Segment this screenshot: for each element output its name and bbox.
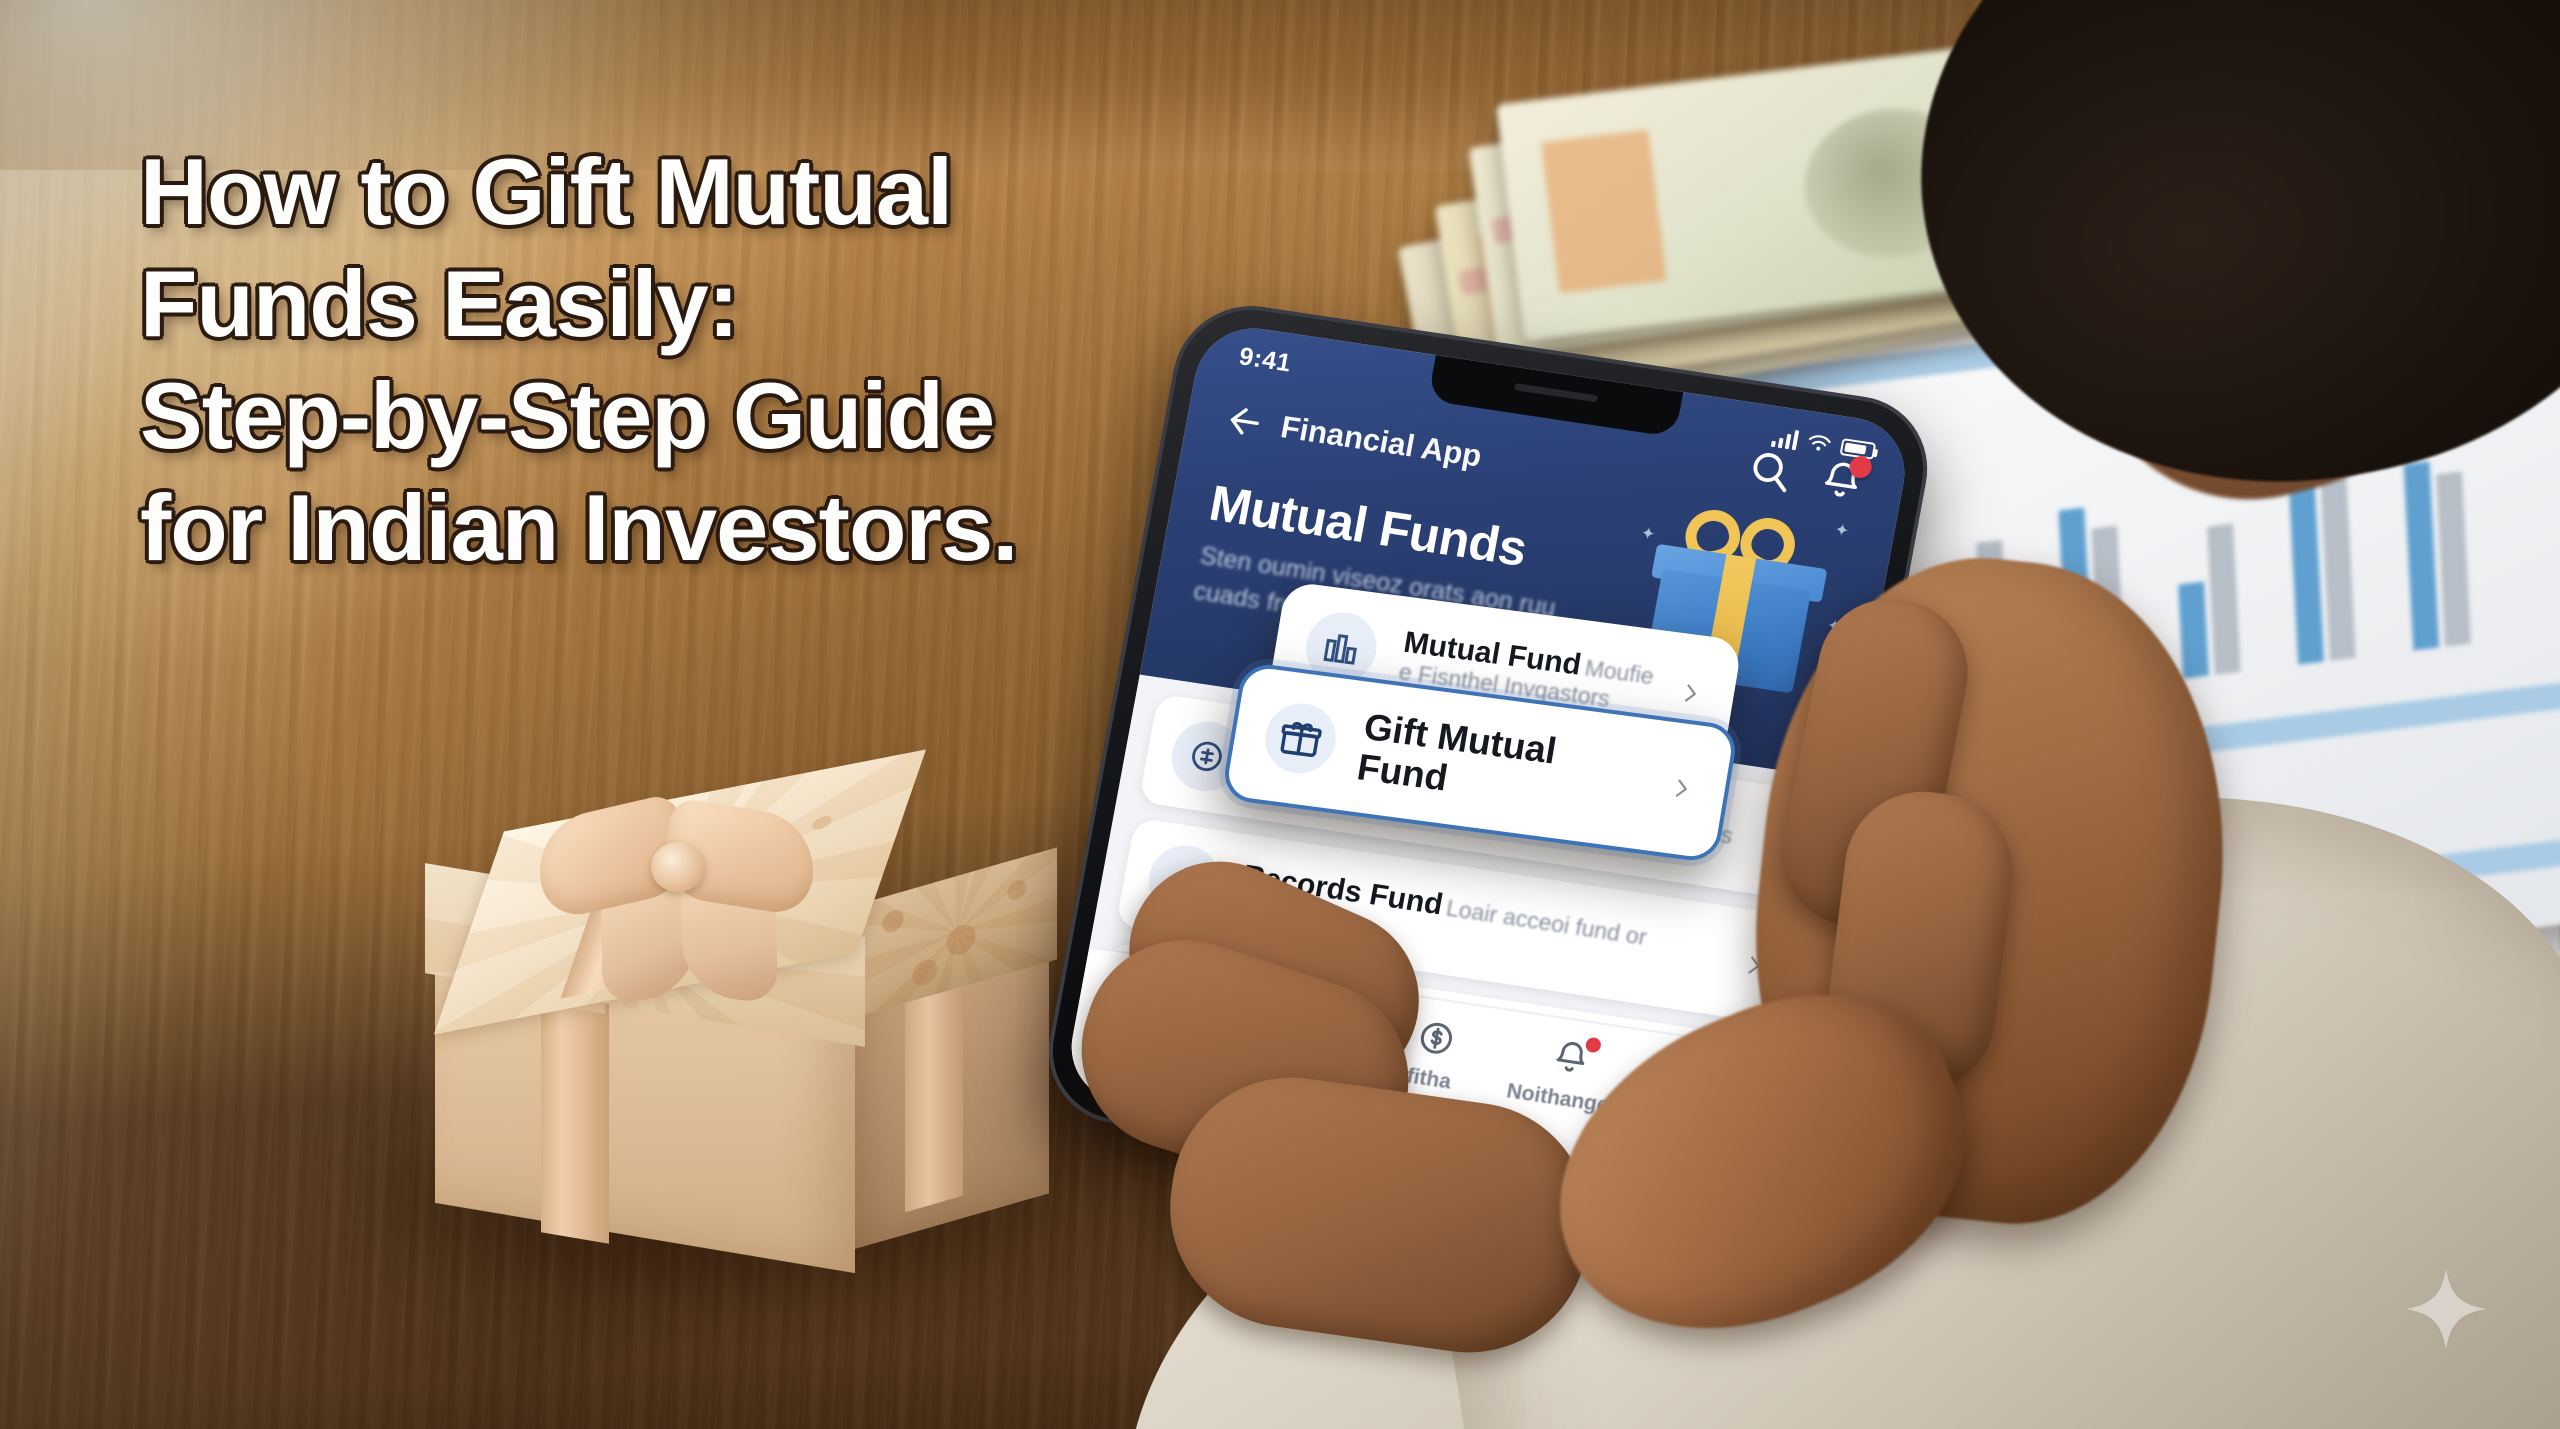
floating-card-title: Gift Mutual Fund: [1354, 706, 1559, 799]
headline-line: Funds Easily:: [140, 248, 1140, 360]
headline-line: Step-by-Step Guide: [140, 360, 1140, 472]
scene-root: 9:41 Financial Ap: [0, 0, 2560, 1429]
chevron-right-icon: [1666, 774, 1696, 803]
headline-line: for Indian Investors.: [140, 472, 1140, 584]
chevron-right-icon: [1675, 679, 1705, 708]
headline-line: How to Gift Mutual: [140, 136, 1140, 248]
sparkle-star-icon: [2404, 1267, 2488, 1351]
ribbon-knot: [651, 842, 705, 892]
status-time: 9:41: [1237, 342, 1294, 378]
wifi-icon: [1805, 431, 1834, 455]
gift-icon: [1260, 700, 1341, 778]
nav-label: fitha: [1405, 1064, 1453, 1094]
dollar-coin-icon: [1411, 1013, 1463, 1063]
back-arrow-icon[interactable]: [1222, 399, 1269, 444]
app-name-label: Financial App: [1278, 409, 1485, 474]
cellular-signal-icon: [1771, 426, 1799, 449]
headline: How to Gift Mutual Funds Easily: Step-by…: [140, 136, 1140, 584]
search-icon[interactable]: [1743, 445, 1797, 497]
notification-bell-button[interactable]: [1815, 455, 1869, 507]
gift-box-object: [345, 690, 1065, 1310]
earpiece-speaker: [1514, 383, 1598, 402]
